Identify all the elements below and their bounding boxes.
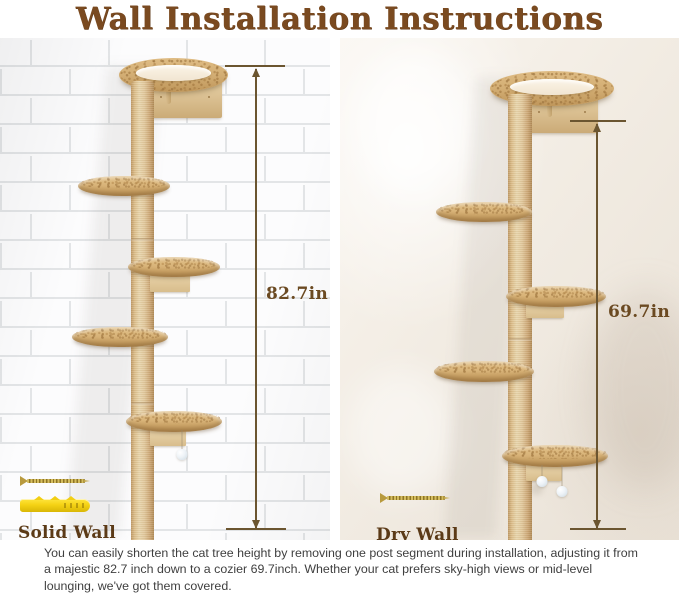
dimension-tick-top-left xyxy=(225,65,285,67)
wall-light-blob-bottom xyxy=(346,368,456,498)
page-title: Wall Installation Instructions xyxy=(0,0,679,38)
dimension-tick-bottom-right xyxy=(570,528,626,530)
platform-step-2 xyxy=(506,286,606,307)
post-seam-mid xyxy=(508,338,532,341)
hanging-ball-toy-1 xyxy=(176,430,188,460)
dimension-label-left: 82.7in xyxy=(266,284,328,304)
platform-step-3 xyxy=(72,327,168,347)
dimension-line-right xyxy=(596,124,598,529)
wall-type-label-dry: Dry Wall xyxy=(376,525,459,540)
hanging-ball-toy-2 xyxy=(556,465,568,497)
platform-step-1 xyxy=(78,176,170,196)
screw-icon xyxy=(20,476,94,486)
dimension-label-right: 69.7in xyxy=(608,302,670,322)
sisal-post xyxy=(131,81,154,540)
dimension-line-left xyxy=(255,69,257,529)
post-seam-upper xyxy=(131,238,154,241)
dimension-tick-bottom-left xyxy=(226,528,286,530)
instruction-caption: You can easily shorten the cat tree heig… xyxy=(44,545,644,594)
platform-step-3 xyxy=(434,361,534,382)
screw-icon xyxy=(380,493,454,503)
hanging-ball-toy-1 xyxy=(536,465,548,487)
platform-step-1 xyxy=(436,202,532,222)
wall-type-label-solid: Solid Wall xyxy=(18,523,116,540)
wall-light-blob-top xyxy=(354,48,474,198)
platform-step-2 xyxy=(128,257,220,277)
dimension-tick-top-right xyxy=(570,120,626,122)
platform-step-4 xyxy=(502,445,608,467)
wall-anchor-icon xyxy=(20,499,90,512)
panel-dry-wall: Dry Wall 69.7in xyxy=(340,38,679,540)
platform-step-4 xyxy=(126,411,222,432)
post-seam-lower xyxy=(131,402,154,405)
panel-solid-wall: Solid Wall 82.7in xyxy=(0,38,330,540)
